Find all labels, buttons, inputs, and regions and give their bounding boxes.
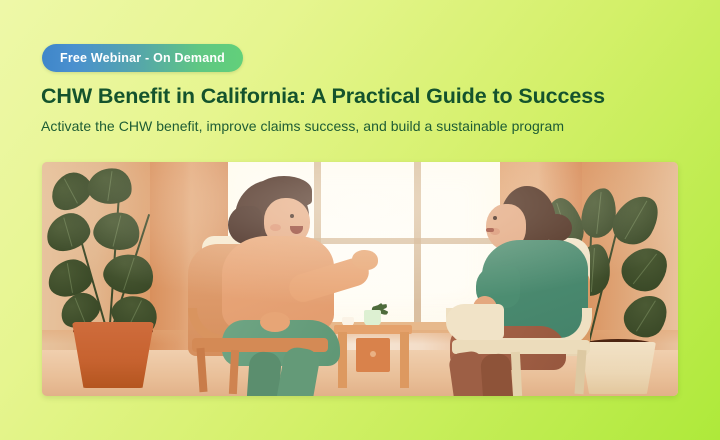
table-plant-pot: [364, 310, 381, 326]
plant-leaf: [614, 238, 675, 300]
side-table-knob: [370, 351, 376, 357]
woman-left-eye: [290, 214, 294, 218]
webinar-hero-banner: Free Webinar - On Demand CHW Benefit in …: [0, 0, 720, 440]
plant-leaf: [86, 165, 135, 207]
plant-leaf: [42, 209, 94, 256]
window-mullion-vertical: [414, 162, 421, 328]
potted-plant-left: [46, 168, 176, 396]
illustration-scene: [42, 162, 678, 396]
woman-left-shin: [246, 351, 282, 396]
plant-leaf: [617, 287, 674, 346]
side-table-leg: [338, 332, 347, 388]
cream-pot: [580, 342, 656, 394]
badge-label: Free Webinar - On Demand: [60, 51, 225, 65]
woman-right-hair-bun: [542, 214, 572, 242]
page-title: CHW Benefit in California: A Practical G…: [41, 84, 605, 109]
plant-leaf: [90, 207, 144, 255]
woman-right-mouth: [486, 228, 494, 232]
woman-right-eye: [493, 216, 497, 220]
hero-illustration: [42, 162, 678, 396]
page-subtitle: Activate the CHW benefit, improve claims…: [41, 118, 564, 134]
woman-left-cheek: [270, 224, 281, 231]
terracotta-pot: [72, 322, 154, 388]
woman-left-hand-gesture: [352, 250, 378, 270]
woman-right-shin: [480, 353, 514, 396]
webinar-status-badge[interactable]: Free Webinar - On Demand: [42, 44, 243, 72]
side-table-leg: [400, 332, 409, 388]
chair-right-armrest-front: [446, 304, 504, 340]
woman-left-hand-resting: [260, 312, 290, 332]
plant-leaf: [99, 247, 159, 300]
